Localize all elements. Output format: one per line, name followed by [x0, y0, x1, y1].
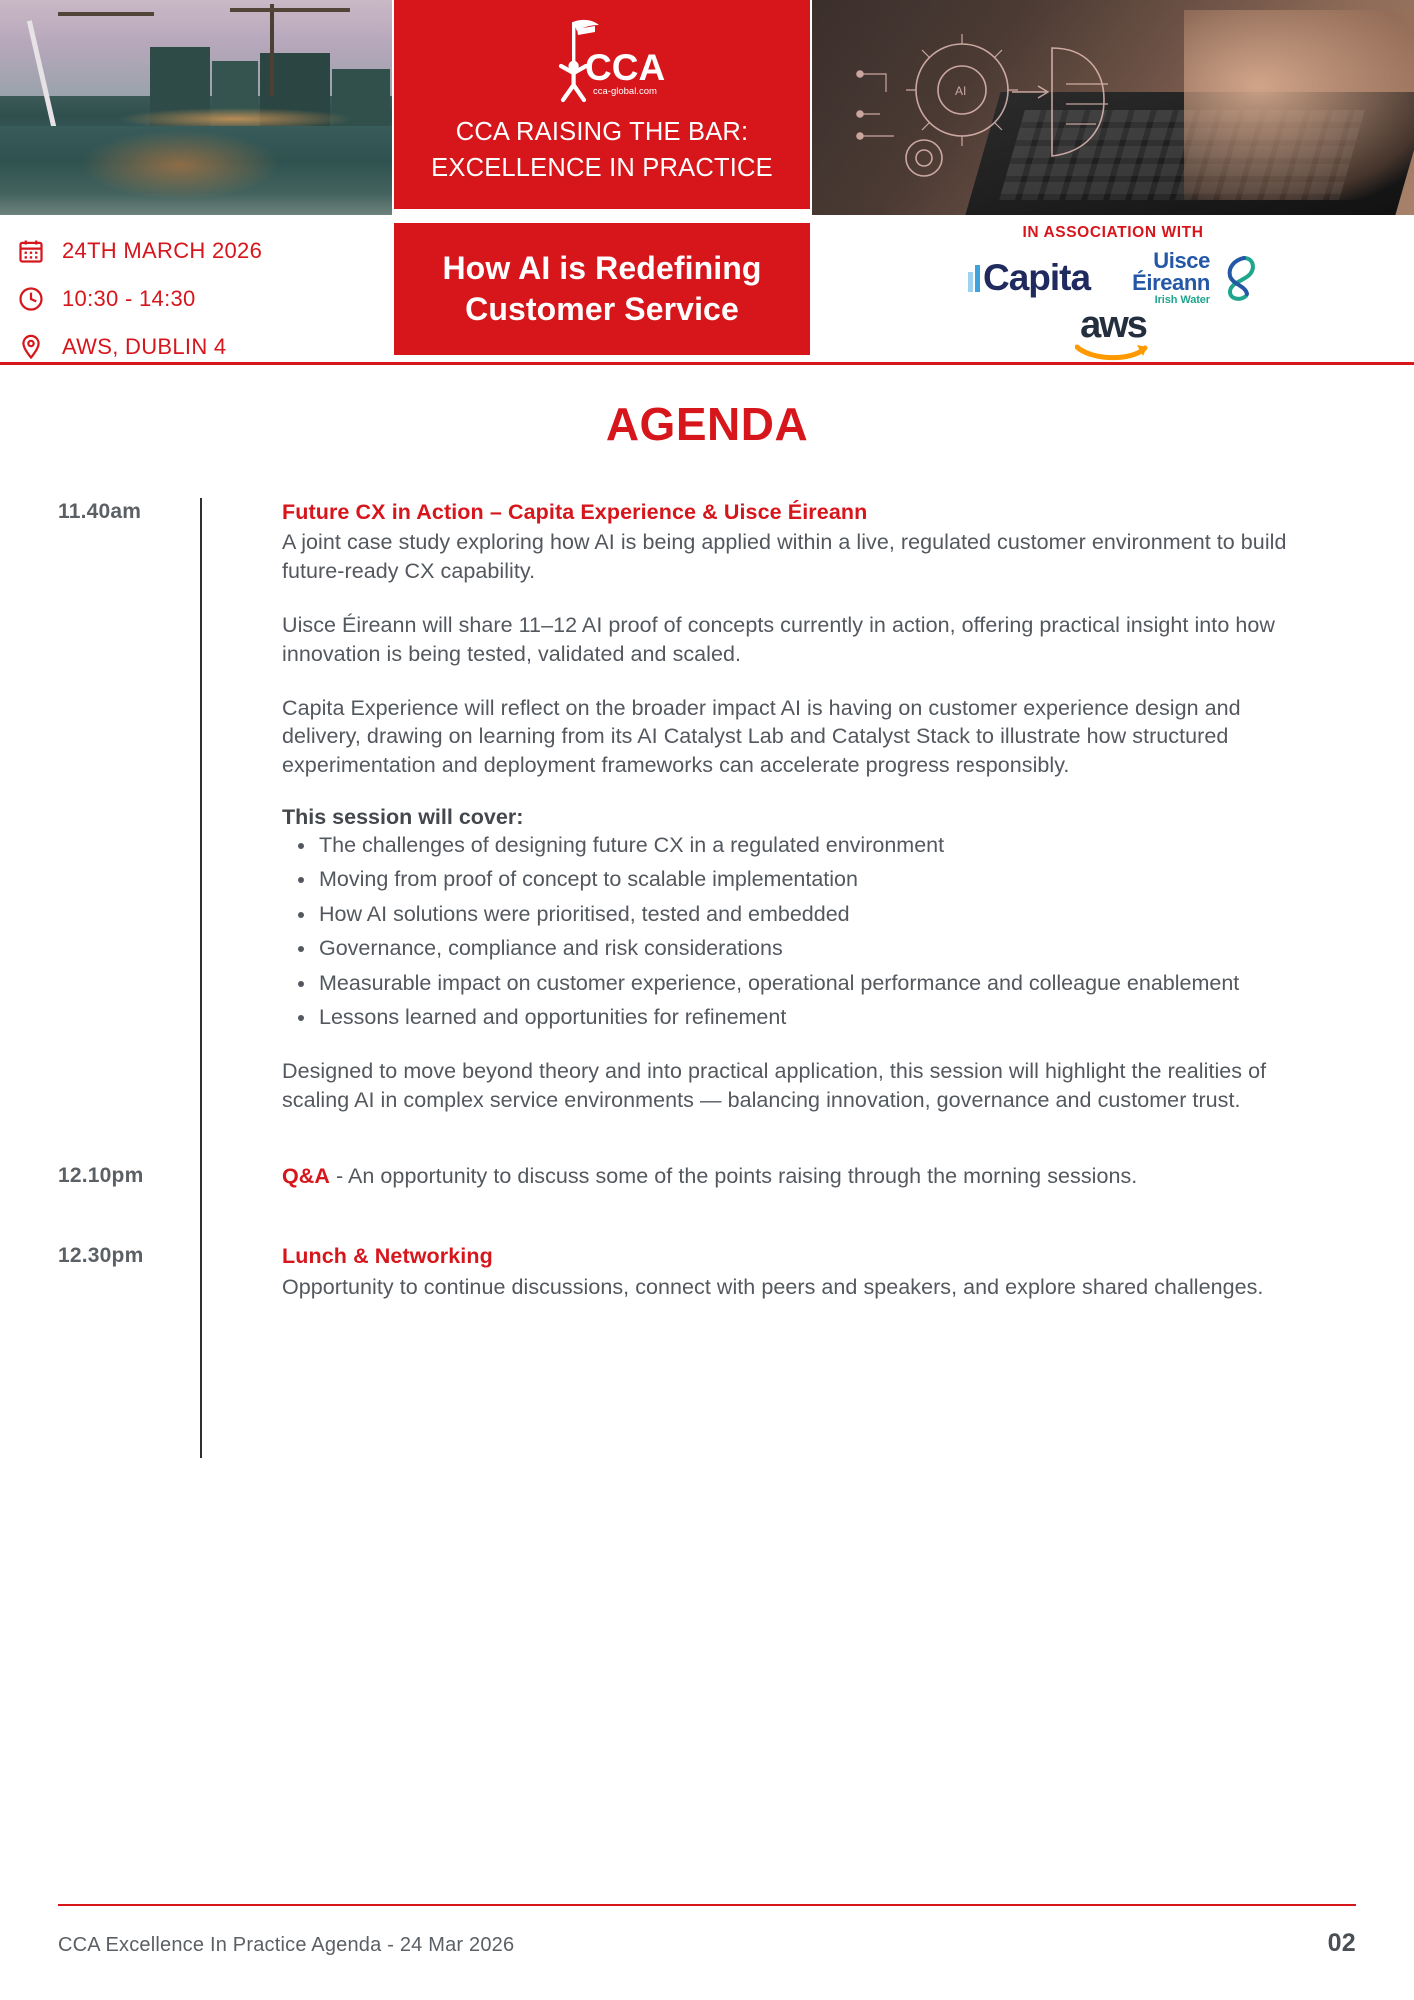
photo-ai-overlay-graphic: AI — [852, 18, 1212, 198]
header-center-column: CCA cca-global.com CCA RAISING THE BAR: … — [394, 0, 810, 364]
session-subtitle: How AI is Redefining Customer Service — [434, 248, 769, 330]
page-title: AGENDA — [0, 397, 1414, 451]
banner-title-line2: EXCELLENCE IN PRACTICE — [431, 150, 773, 186]
aws-logo-text: aws — [812, 310, 1414, 340]
ai-technology-photo: AI — [812, 0, 1414, 215]
slot-title-inline: Q&A — [282, 1164, 330, 1188]
slot-paragraph: Capita Experience will reflect on the br… — [282, 694, 1294, 779]
partners-section: IN ASSOCIATION WITH Capita Uisce Éireann… — [812, 215, 1414, 364]
session-subtitle-banner: How AI is Redefining Customer Service — [394, 223, 810, 355]
agenda-slot: 12.10pm Q&A - An opportunity to discuss … — [58, 1162, 1294, 1190]
subtitle-line2: Customer Service — [442, 289, 761, 330]
photo-crane-jib — [58, 12, 154, 16]
aws-logo: aws — [812, 310, 1414, 362]
slot-title: Future CX in Action – Capita Experience … — [282, 498, 1294, 526]
slot-time: 11.40am — [58, 498, 200, 524]
agenda-content: 11.40am Future CX in Action – Capita Exp… — [0, 498, 1414, 1301]
slot-content: Future CX in Action – Capita Experience … — [200, 498, 1294, 1114]
event-location: AWS, DUBLIN 4 — [62, 334, 226, 360]
banner-title: CCA RAISING THE BAR: EXCELLENCE IN PRACT… — [421, 114, 783, 186]
agenda-page: 24TH MARCH 2026 10:30 - 14:30 — [0, 0, 1414, 2000]
uisce-logo-text: Uisce Éireann Irish Water — [1132, 250, 1210, 306]
session-cover-heading: This session will cover: — [282, 805, 1294, 830]
event-time: 10:30 - 14:30 — [62, 286, 196, 312]
list-item: How AI solutions were prioritised, teste… — [282, 900, 1294, 928]
page-number: 02 — [1328, 1929, 1356, 1958]
dublin-skyline-photo — [0, 0, 392, 215]
svg-text:CCA: CCA — [585, 47, 665, 88]
header-divider — [0, 362, 1414, 365]
cca-logo: CCA cca-global.com — [537, 16, 667, 108]
capita-logo: Capita — [968, 261, 1090, 294]
footer-divider — [58, 1904, 1356, 1906]
uisce-eireann-logo: Uisce Éireann Irish Water — [1132, 250, 1258, 306]
slot-closing-paragraph: Designed to move beyond theory and into … — [282, 1057, 1294, 1114]
event-time-row: 10:30 - 14:30 — [14, 275, 392, 323]
slot-time: 12.30pm — [58, 1242, 200, 1268]
capita-bars-icon — [968, 265, 980, 295]
slot-time: 12.10pm — [58, 1162, 200, 1188]
aws-smile-icon — [1075, 343, 1151, 362]
uisce-line1: Uisce — [1132, 250, 1210, 272]
banner-title-line1: CCA RAISING THE BAR: — [431, 114, 773, 150]
association-label: IN ASSOCIATION WITH — [812, 224, 1414, 242]
photo-water-reflection — [80, 130, 280, 200]
photo-crane-jib-2 — [230, 8, 350, 12]
agenda-slot: 12.30pm Lunch & Networking Opportunity t… — [58, 1242, 1294, 1301]
partner-logo-row: Capita Uisce Éireann Irish Water — [812, 252, 1414, 304]
session-cover-list: The challenges of designing future CX in… — [282, 831, 1294, 1031]
event-date-row: 24TH MARCH 2026 — [14, 227, 392, 275]
slot-content: Lunch & Networking Opportunity to contin… — [200, 1242, 1294, 1301]
timeline-rule — [200, 498, 202, 1458]
clock-icon — [14, 282, 48, 316]
slot-paragraph: Opportunity to continue discussions, con… — [282, 1273, 1294, 1301]
uisce-swirl-icon — [1214, 254, 1258, 302]
svg-text:cca-global.com: cca-global.com — [593, 86, 657, 97]
list-item: Governance, compliance and risk consider… — [282, 934, 1294, 962]
photo-crane-mast — [270, 4, 274, 96]
list-item: The challenges of designing future CX in… — [282, 831, 1294, 859]
header-left-column: 24TH MARCH 2026 10:30 - 14:30 — [0, 0, 392, 364]
capita-logo-text: Capita — [983, 261, 1090, 294]
slot-body: Q&A - An opportunity to discuss some of … — [282, 1162, 1294, 1190]
map-pin-icon — [14, 330, 48, 364]
event-date: 24TH MARCH 2026 — [62, 238, 262, 264]
list-item: Lessons learned and opportunities for re… — [282, 1003, 1294, 1031]
page-footer: CCA Excellence In Practice Agenda - 24 M… — [58, 1904, 1356, 1958]
uisce-line2: Éireann — [1132, 272, 1210, 294]
list-item: Moving from proof of concept to scalable… — [282, 865, 1294, 893]
photo-hand — [1184, 10, 1414, 200]
slot-title: Lunch & Networking — [282, 1242, 1294, 1270]
brand-banner: CCA cca-global.com CCA RAISING THE BAR: … — [394, 0, 810, 209]
footer-text: CCA Excellence In Practice Agenda - 24 M… — [58, 1934, 514, 1957]
svg-text:AI: AI — [955, 84, 966, 98]
event-meta: 24TH MARCH 2026 10:30 - 14:30 — [0, 215, 392, 364]
footer-row: CCA Excellence In Practice Agenda - 24 M… — [58, 1929, 1356, 1958]
header-right-column: AI — [812, 0, 1414, 364]
calendar-icon — [14, 234, 48, 268]
slot-content: Q&A - An opportunity to discuss some of … — [200, 1162, 1294, 1190]
agenda-slot: 11.40am Future CX in Action – Capita Exp… — [58, 498, 1294, 1114]
slot-body-inline: - An opportunity to discuss some of the … — [330, 1164, 1137, 1188]
subtitle-line1: How AI is Redefining — [442, 248, 761, 289]
page-header: 24TH MARCH 2026 10:30 - 14:30 — [0, 0, 1414, 364]
slot-paragraph: Uisce Éireann will share 11–12 AI proof … — [282, 611, 1294, 668]
list-item: Measurable impact on customer experience… — [282, 969, 1294, 997]
slot-paragraph: A joint case study exploring how AI is b… — [282, 528, 1294, 585]
